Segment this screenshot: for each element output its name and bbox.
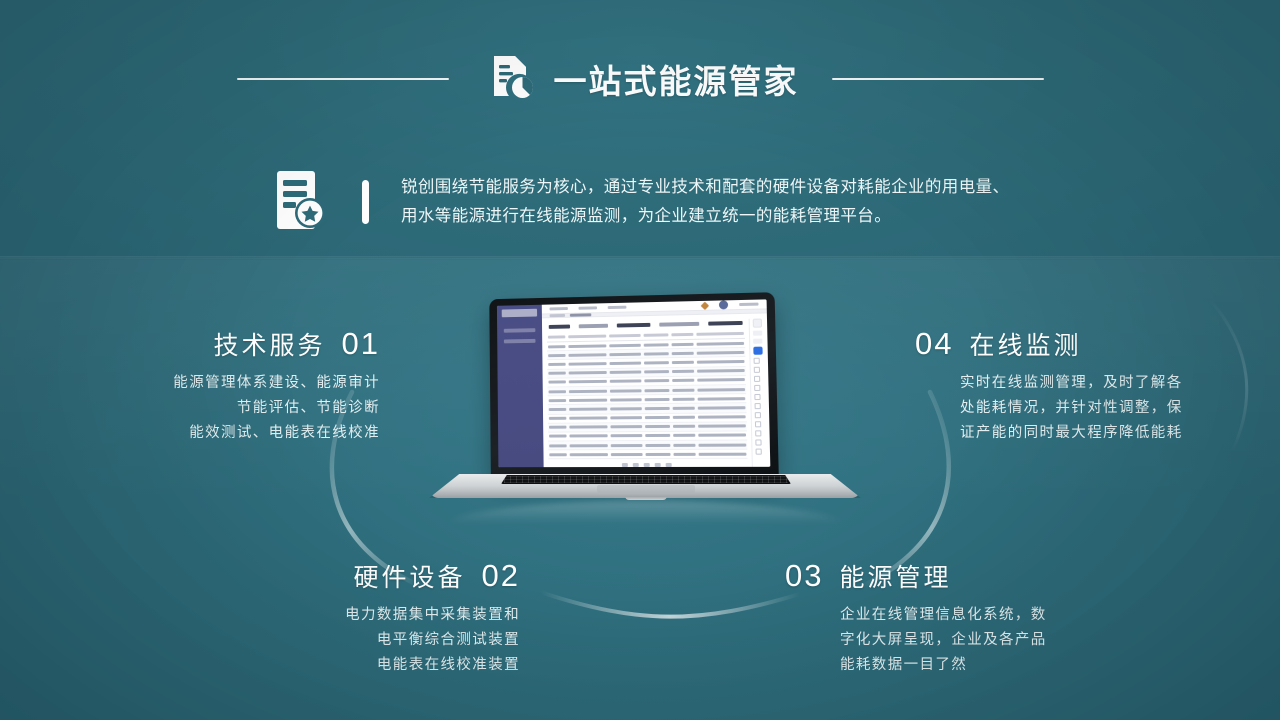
- feature-02-line-2: 电平衡综合测试装置: [180, 628, 520, 653]
- feature-04-heading: 04 在线监测: [915, 326, 1255, 362]
- feature-02-body: 电力数据集中采集装置和 电平衡综合测试装置 电能表在线校准装置: [180, 603, 520, 678]
- feature-03-line-1: 企业在线管理信息化系统，数: [840, 603, 1125, 628]
- dashboard-body: [542, 313, 770, 467]
- sidebar-item-1[interactable]: [504, 328, 536, 333]
- feature-04-body: 实时在线监测管理，及时了解各 处能耗情况，并针对性调整，保 证产能的同时最大程序…: [960, 371, 1255, 446]
- dashboard-sidebar[interactable]: [497, 305, 544, 467]
- feature-02-title: 硬件设备: [354, 558, 466, 594]
- page-next[interactable]: [666, 463, 672, 467]
- checkbox-item[interactable]: [755, 421, 764, 427]
- page-title: 一站式能源管家: [554, 55, 799, 103]
- intro-block: 锐创围绕节能服务为核心，通过专业技术和配套的硬件设备对耗能企业的用电量、 用水等…: [272, 163, 1222, 241]
- filter-select-1[interactable]: [753, 331, 762, 336]
- checkbox-item[interactable]: [754, 376, 763, 382]
- laptop-base: [415, 470, 875, 504]
- feature-02-number: 02: [482, 558, 520, 594]
- checkbox-item[interactable]: [755, 412, 764, 418]
- laptop-lid: [489, 292, 779, 477]
- intro-paragraph: 锐创围绕节能服务为核心，通过专业技术和配套的硬件设备对耗能企业的用电量、 用水等…: [401, 173, 1009, 231]
- column-header-5: [671, 333, 693, 336]
- dashboard-main: [542, 299, 771, 467]
- column-header-3: [609, 334, 640, 338]
- filter-tab-2[interactable]: [617, 323, 651, 328]
- checkbox-item[interactable]: [756, 449, 765, 455]
- feature-03-body: 企业在线管理信息化系统，数 字化大屏呈现，企业及各产品 能耗数据一目了然: [840, 603, 1125, 678]
- checkbox-item[interactable]: [754, 385, 763, 391]
- feature-01-body: 能源管理体系建设、能源审计 节能评估、节能诊断 能效测试、电能表在线校准: [20, 371, 380, 446]
- header-title-group: 一站式能源管家: [482, 49, 799, 110]
- dashboard-logo: [502, 309, 537, 318]
- topbar-username: [739, 303, 758, 306]
- document-chart-icon: [482, 49, 538, 110]
- laptop-keyboard: [501, 475, 791, 484]
- laptop-trackpad: [597, 485, 695, 493]
- page-prev[interactable]: [622, 463, 628, 467]
- search-input[interactable]: [753, 319, 762, 328]
- laptop-screen[interactable]: [497, 299, 770, 467]
- intro-line-2: 用水等能源进行在线能源监测，为企业建立统一的能耗管理平台。: [401, 202, 1009, 231]
- filter-label: [549, 325, 570, 329]
- feature-01-number: 01: [342, 326, 380, 362]
- laptop-reflection: [443, 501, 847, 527]
- feature-04-line-1: 实时在线监测管理，及时了解各: [960, 371, 1255, 396]
- feature-03-line-3: 能耗数据一目了然: [840, 653, 1125, 678]
- filter-select-2[interactable]: [753, 339, 762, 344]
- feature-04-number: 04: [915, 326, 953, 362]
- feature-01-heading: 技术服务 01: [20, 326, 380, 362]
- page-2[interactable]: [644, 463, 650, 467]
- feature-03-title: 能源管理: [839, 558, 951, 594]
- checkbox-item[interactable]: [755, 430, 764, 436]
- confirm-button[interactable]: [753, 347, 762, 355]
- header-band-divider: [0, 256, 1280, 260]
- edit-pencil-icon[interactable]: [701, 301, 710, 309]
- side-filter-panel: [749, 319, 766, 468]
- column-header-1: [548, 335, 565, 338]
- filter-tab-1[interactable]: [579, 324, 608, 329]
- feature-04-line-2: 处能耗情况，并针对性调整，保: [960, 396, 1255, 421]
- column-header-6: [696, 332, 744, 336]
- checkbox-item[interactable]: [755, 439, 764, 445]
- slide-header: 一站式能源管家: [0, 46, 1280, 112]
- checkbox-item[interactable]: [754, 358, 763, 364]
- feature-03-line-2: 字化大屏呈现，企业及各产品: [840, 628, 1125, 653]
- header-rule-left: [237, 78, 449, 80]
- page-3[interactable]: [655, 463, 661, 467]
- checkbox-item[interactable]: [754, 367, 763, 373]
- feature-block-04: 04 在线监测 实时在线监测管理，及时了解各 处能耗情况，并针对性调整，保 证产…: [915, 326, 1255, 446]
- data-table-panel: [547, 319, 748, 467]
- feature-03-number: 03: [785, 558, 823, 594]
- document-star-icon: [272, 168, 332, 237]
- sidebar-item-2[interactable]: [504, 339, 536, 343]
- feature-block-02: 硬件设备 02 电力数据集中采集装置和 电平衡综合测试装置 电能表在线校准装置: [180, 558, 520, 678]
- feature-block-03: 03 能源管理 企业在线管理信息化系统，数 字化大屏呈现，企业及各产品 能耗数据…: [785, 558, 1125, 678]
- intro-separator-bar: [362, 180, 369, 224]
- breadcrumb-item-2: [570, 313, 591, 316]
- feature-01-line-1: 能源管理体系建设、能源审计: [20, 371, 380, 396]
- feature-01-line-2: 节能评估、节能诊断: [20, 396, 380, 421]
- laptop-front-notch: [625, 496, 667, 500]
- feature-02-line-1: 电力数据集中采集装置和: [180, 603, 520, 628]
- header-rule-right: [832, 78, 1044, 80]
- topbar-menu-3[interactable]: [608, 306, 627, 309]
- feature-01-title: 技术服务: [214, 326, 326, 362]
- feature-04-line-3: 证产能的同时最大程序降低能耗: [960, 421, 1255, 446]
- column-header-2: [568, 335, 606, 339]
- slide-root: 一站式能源管家 锐创围绕节能服务为核心，通过专业技术和配套的硬件设备对耗能企业的…: [0, 0, 1280, 720]
- feature-block-01: 技术服务 01 能源管理体系建设、能源审计 节能评估、节能诊断 能效测试、电能表…: [20, 326, 380, 446]
- feature-03-heading: 03 能源管理: [785, 558, 1125, 594]
- table-row[interactable]: [548, 450, 747, 460]
- filter-tab-3[interactable]: [659, 322, 699, 327]
- page-1[interactable]: [633, 463, 639, 467]
- avatar[interactable]: [719, 300, 728, 309]
- checkbox-item[interactable]: [755, 403, 764, 409]
- feature-02-heading: 硬件设备 02: [180, 558, 520, 594]
- intro-line-1: 锐创围绕节能服务为核心，通过专业技术和配套的硬件设备对耗能企业的用电量、: [401, 173, 1009, 202]
- table-pagination[interactable]: [548, 459, 747, 467]
- topbar-menu-1[interactable]: [550, 307, 568, 310]
- topbar-menu-2[interactable]: [579, 306, 598, 309]
- column-header-4: [643, 333, 668, 336]
- feature-04-title: 在线监测: [969, 326, 1081, 362]
- filter-tab-4[interactable]: [708, 321, 742, 326]
- laptop-mockup: [415, 294, 875, 534]
- breadcrumb-item-1[interactable]: [550, 314, 565, 317]
- feature-01-line-3: 能效测试、电能表在线校准: [20, 421, 380, 446]
- checkbox-item[interactable]: [754, 394, 763, 400]
- topbar-spacer: [637, 306, 691, 307]
- feature-02-line-3: 电能表在线校准装置: [180, 653, 520, 678]
